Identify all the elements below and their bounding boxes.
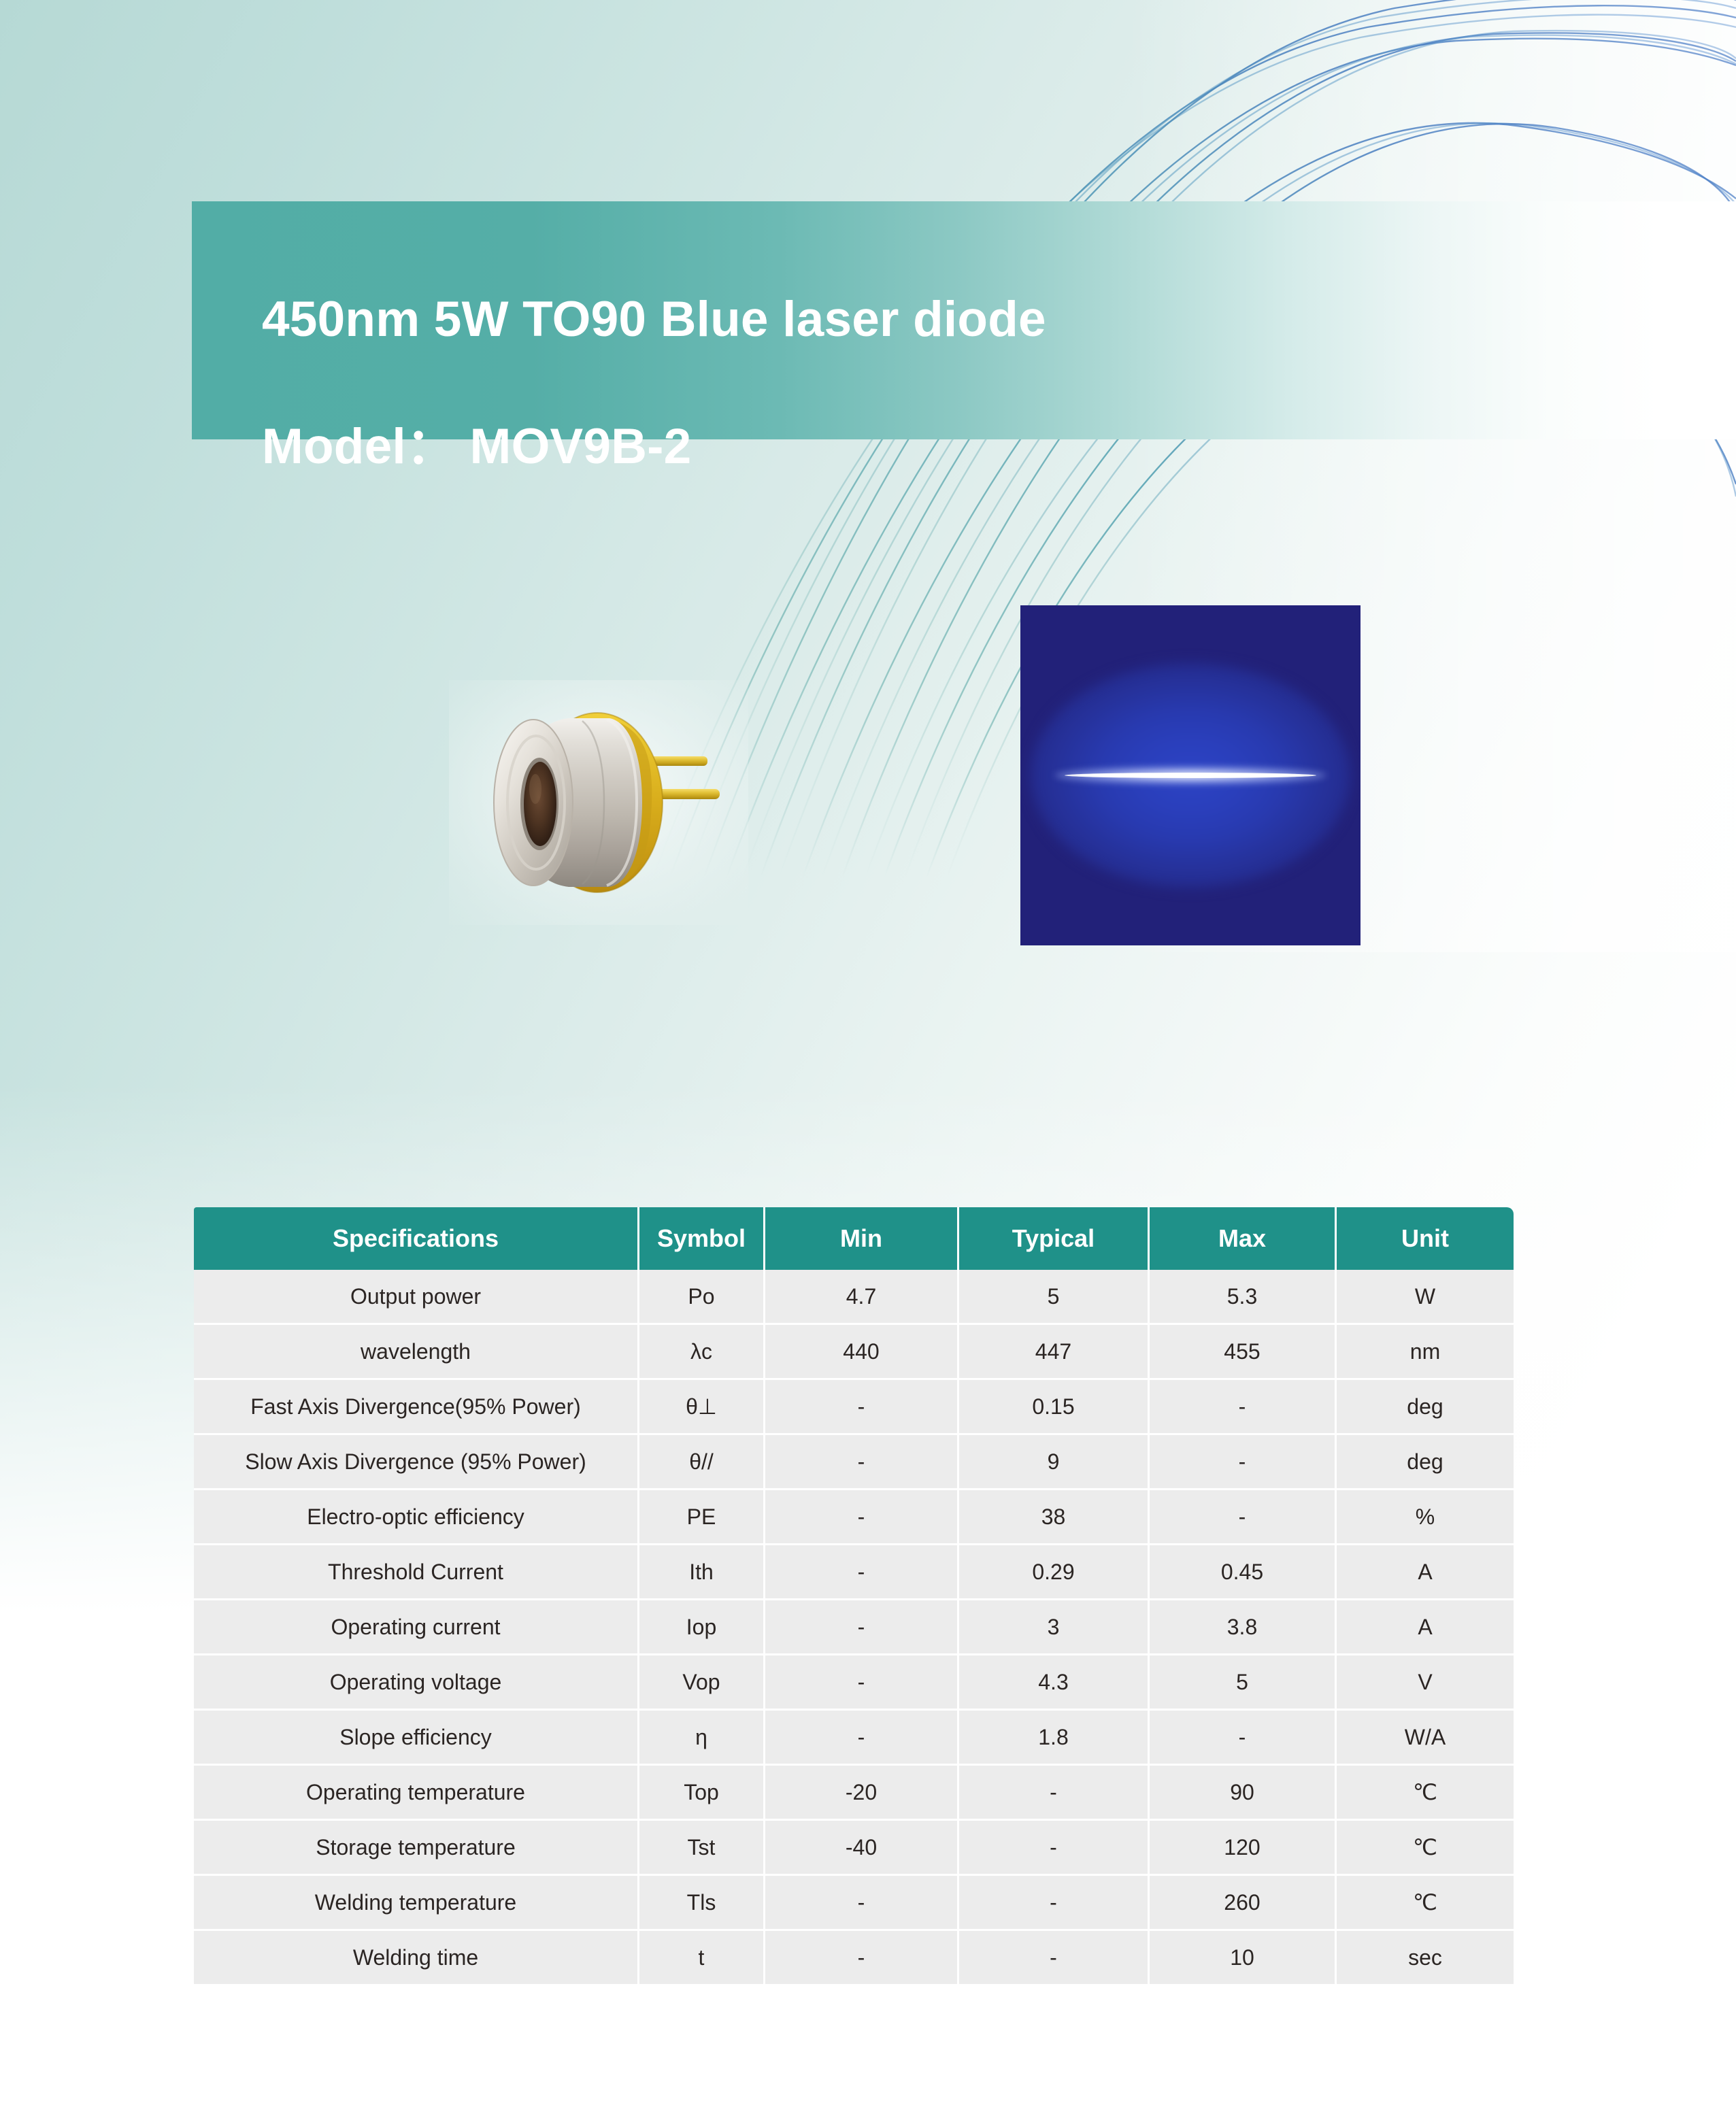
cell-typical: 0.29 (959, 1545, 1150, 1600)
cell-unit: deg (1337, 1435, 1514, 1490)
title-line-model: Model： MOV9B-2 (262, 415, 1486, 478)
cell-spec: Output power (194, 1270, 639, 1325)
cell-typical: - (959, 1876, 1150, 1931)
cell-unit: nm (1337, 1325, 1514, 1380)
table-row: Operating voltageVop-4.35V (194, 1655, 1514, 1711)
cell-spec: Welding temperature (194, 1876, 639, 1931)
column-header-specifications: Specifications (194, 1207, 639, 1270)
cell-max: 5 (1150, 1655, 1337, 1711)
cell-symbol: t (639, 1931, 765, 1984)
cell-min: - (765, 1711, 959, 1766)
cell-min: - (765, 1655, 959, 1711)
specifications-table: Specifications Symbol Min Typical Max Un… (194, 1207, 1514, 1984)
cell-min: - (765, 1435, 959, 1490)
cell-spec: Storage temperature (194, 1821, 639, 1876)
cell-unit: % (1337, 1490, 1514, 1545)
cell-max: - (1150, 1490, 1337, 1545)
cell-typical: 1.8 (959, 1711, 1150, 1766)
cell-symbol: Tst (639, 1821, 765, 1876)
table-row: Electro-optic efficiencyPE-38-% (194, 1490, 1514, 1545)
cell-symbol: Iop (639, 1600, 765, 1655)
table-row: Welding timet--10sec (194, 1931, 1514, 1984)
cell-max: 10 (1150, 1931, 1337, 1984)
cell-typical: 0.15 (959, 1380, 1150, 1435)
cell-symbol: Top (639, 1766, 765, 1821)
cell-unit: V (1337, 1655, 1514, 1711)
cell-min: - (765, 1545, 959, 1600)
cell-spec: Operating current (194, 1600, 639, 1655)
cell-spec: Operating temperature (194, 1766, 639, 1821)
cell-symbol: η (639, 1711, 765, 1766)
cell-min: 440 (765, 1325, 959, 1380)
cell-symbol: θ// (639, 1435, 765, 1490)
cell-typical: 3 (959, 1600, 1150, 1655)
cell-typical: 9 (959, 1435, 1150, 1490)
page-title: 450nm 5W TO90 Blue laser diode Model： MO… (262, 224, 1486, 542)
beam-streak (1065, 773, 1316, 778)
cell-max: - (1150, 1435, 1337, 1490)
cell-typical: 5 (959, 1270, 1150, 1325)
cell-max: 3.8 (1150, 1600, 1337, 1655)
cell-max: 455 (1150, 1325, 1337, 1380)
table-row: Welding temperatureTls--260℃ (194, 1876, 1514, 1931)
table-row: Operating currentIop-33.8A (194, 1600, 1514, 1655)
column-header-typical: Typical (959, 1207, 1150, 1270)
cell-min: -20 (765, 1766, 959, 1821)
cell-max: - (1150, 1711, 1337, 1766)
table-row: Output powerPo4.755.3W (194, 1270, 1514, 1325)
cell-max: 5.3 (1150, 1270, 1337, 1325)
cell-typical: - (959, 1766, 1150, 1821)
cell-typical: - (959, 1931, 1150, 1984)
table-row: Fast Axis Divergence(95% Power)θ⊥-0.15-d… (194, 1380, 1514, 1435)
cell-symbol: PE (639, 1490, 765, 1545)
cell-min: -40 (765, 1821, 959, 1876)
cell-min: 4.7 (765, 1270, 959, 1325)
cell-unit: ℃ (1337, 1766, 1514, 1821)
table-row: Storage temperatureTst-40-120℃ (194, 1821, 1514, 1876)
cell-spec: Electro-optic efficiency (194, 1490, 639, 1545)
column-header-min: Min (765, 1207, 959, 1270)
cell-unit: deg (1337, 1380, 1514, 1435)
cell-min: - (765, 1490, 959, 1545)
table-row: Slow Axis Divergence (95% Power)θ//-9-de… (194, 1435, 1514, 1490)
cell-max: 120 (1150, 1821, 1337, 1876)
cell-unit: A (1337, 1600, 1514, 1655)
table-row: Operating temperatureTop-20-90℃ (194, 1766, 1514, 1821)
cell-min: - (765, 1380, 959, 1435)
table-row: wavelengthλc440447455nm (194, 1325, 1514, 1380)
table-row: Slope efficiencyη-1.8-W/A (194, 1711, 1514, 1766)
cell-min: - (765, 1931, 959, 1984)
cell-symbol: θ⊥ (639, 1380, 765, 1435)
table-header-row: Specifications Symbol Min Typical Max Un… (194, 1207, 1514, 1270)
cell-symbol: Tls (639, 1876, 765, 1931)
cell-spec: Operating voltage (194, 1655, 639, 1711)
cell-unit: W (1337, 1270, 1514, 1325)
cell-min: - (765, 1600, 959, 1655)
cell-typical: - (959, 1821, 1150, 1876)
column-header-unit: Unit (1337, 1207, 1514, 1270)
cell-min: - (765, 1876, 959, 1931)
cell-max: 90 (1150, 1766, 1337, 1821)
cell-max: 0.45 (1150, 1545, 1337, 1600)
cell-typical: 447 (959, 1325, 1150, 1380)
cell-spec: wavelength (194, 1325, 639, 1380)
table-row: Threshold CurrentIth-0.290.45A (194, 1545, 1514, 1600)
diode-aperture-window (520, 758, 558, 850)
cell-symbol: Po (639, 1270, 765, 1325)
cell-spec: Fast Axis Divergence(95% Power) (194, 1380, 639, 1435)
product-photo-laser-diode (449, 680, 748, 925)
cell-symbol: λc (639, 1325, 765, 1380)
cell-max: - (1150, 1380, 1337, 1435)
cell-symbol: Ith (639, 1545, 765, 1600)
column-header-max: Max (1150, 1207, 1337, 1270)
cell-unit: ℃ (1337, 1821, 1514, 1876)
cell-typical: 38 (959, 1490, 1150, 1545)
cell-unit: ℃ (1337, 1876, 1514, 1931)
cell-max: 260 (1150, 1876, 1337, 1931)
cell-spec: Threshold Current (194, 1545, 639, 1600)
beam-profile-image (1020, 605, 1361, 945)
cell-unit: W/A (1337, 1711, 1514, 1766)
title-line-product: 450nm 5W TO90 Blue laser diode (262, 288, 1486, 351)
cell-unit: A (1337, 1545, 1514, 1600)
cell-spec: Welding time (194, 1931, 639, 1984)
cell-unit: sec (1337, 1931, 1514, 1984)
column-header-symbol: Symbol (639, 1207, 765, 1270)
cell-spec: Slow Axis Divergence (95% Power) (194, 1435, 639, 1490)
cell-typical: 4.3 (959, 1655, 1150, 1711)
cell-spec: Slope efficiency (194, 1711, 639, 1766)
cell-symbol: Vop (639, 1655, 765, 1711)
